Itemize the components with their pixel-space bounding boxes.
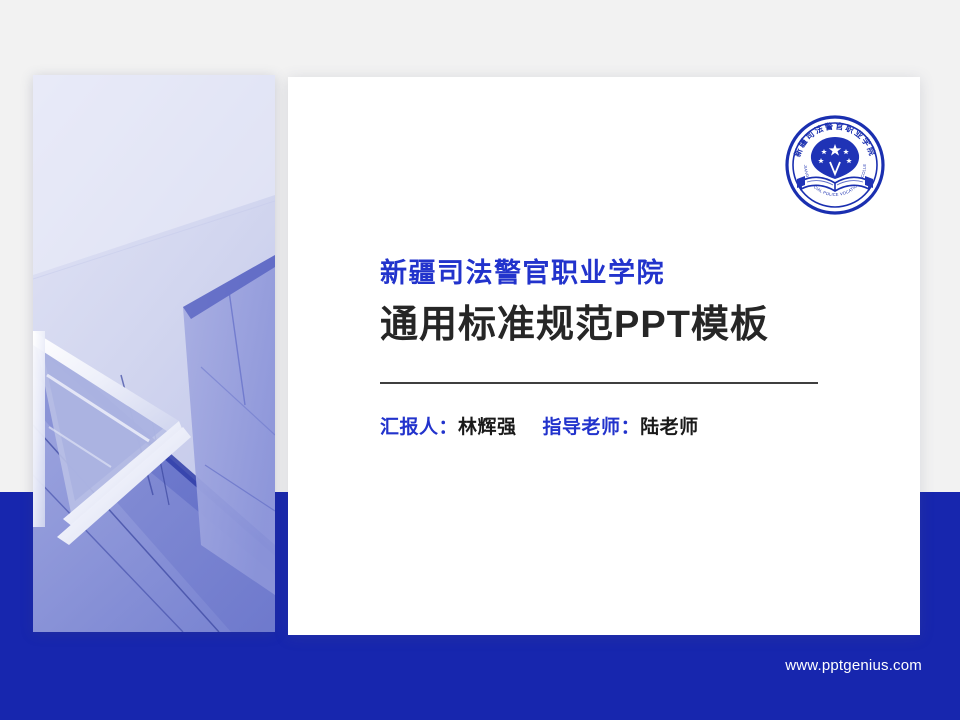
page-title: 通用标准规范PPT模板: [380, 303, 840, 349]
presenter-line: 汇报人：林辉强指导老师：陆老师: [380, 412, 840, 439]
school-name: 新疆司法警官职业学院: [380, 258, 840, 289]
college-emblem-logo: 新疆司法警官职业学院 XINJIANG JUDICIAL POLICE VOCA…: [783, 113, 887, 217]
reporter-separator: ：: [439, 417, 459, 438]
abstract-architecture-ceiling-photo: [33, 75, 275, 632]
reporter-name: 林辉强: [458, 417, 517, 438]
advisor-label: 指导老师: [543, 417, 621, 438]
watermark-url: www.pptgenius.com: [785, 657, 922, 674]
advisor-separator: ：: [621, 417, 641, 438]
title-slide: 新疆司法警官职业学院 XINJIANG JUDICIAL POLICE VOCA…: [0, 0, 960, 720]
reporter-label: 汇报人: [380, 417, 439, 438]
advisor-name: 陆老师: [640, 417, 699, 438]
title-text-block: 新疆司法警官职业学院 通用标准规范PPT模板 汇报人：林辉强指导老师：陆老师: [380, 258, 840, 439]
title-divider: [380, 382, 818, 384]
